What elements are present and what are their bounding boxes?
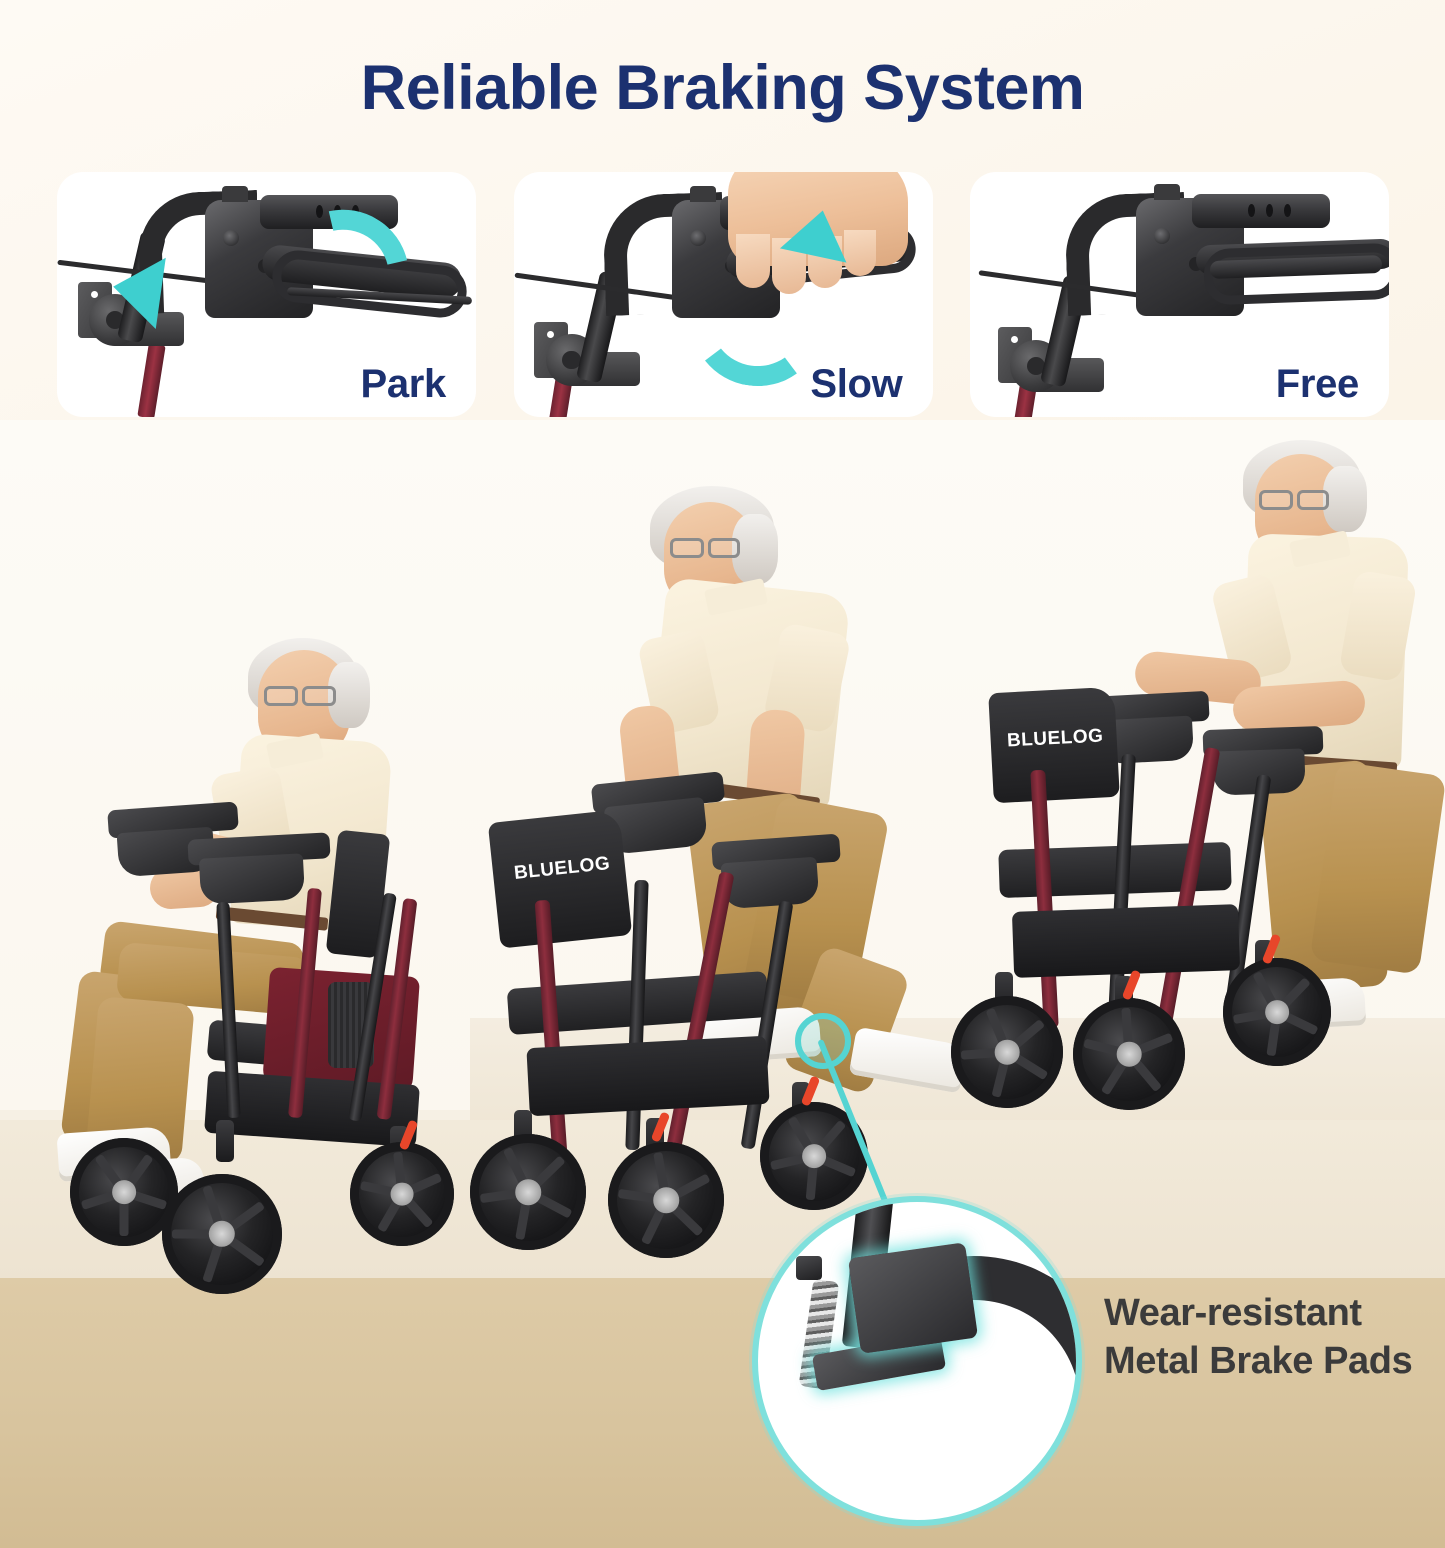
rollator-wheel <box>470 1134 586 1250</box>
brake-mode-label-slow: Slow <box>810 362 902 407</box>
rollator-wheel <box>1073 998 1185 1110</box>
rollator-wheel <box>1223 958 1331 1066</box>
callout-line-2: Metal Brake Pads <box>1104 1338 1434 1386</box>
brake-mode-label-free: Free <box>1276 362 1359 407</box>
brake-mode-label-park: Park <box>360 362 446 407</box>
arrow-head-icon <box>108 251 166 329</box>
rollator-right: BLUELOG <box>955 690 1295 1120</box>
brake-mode-card-row: Park <box>57 172 1389 417</box>
page-title: Reliable Braking System <box>0 52 1445 124</box>
rollator-left <box>60 790 460 1220</box>
rollator-wheel <box>608 1142 724 1258</box>
product-feature-page: Reliable Braking System <box>0 0 1445 1548</box>
brake-mode-card-free[interactable]: Free <box>970 172 1389 417</box>
brake-pad-detail-circle <box>752 1196 1082 1526</box>
brake-mode-card-slow[interactable]: Slow <box>514 172 933 417</box>
metal-brake-pad-arm-icon <box>848 1242 978 1353</box>
callout-text: Wear-resistant Metal Brake Pads <box>1104 1290 1434 1386</box>
brake-mode-card-park[interactable]: Park <box>57 172 476 417</box>
callout-line-1: Wear-resistant <box>1104 1290 1434 1338</box>
rollator-middle: BLUELOG <box>470 750 890 1220</box>
bolt-icon <box>796 1256 822 1280</box>
rollator-wheel <box>350 1142 454 1246</box>
rollator-wheel <box>162 1174 282 1294</box>
rollator-wheel <box>951 996 1063 1108</box>
